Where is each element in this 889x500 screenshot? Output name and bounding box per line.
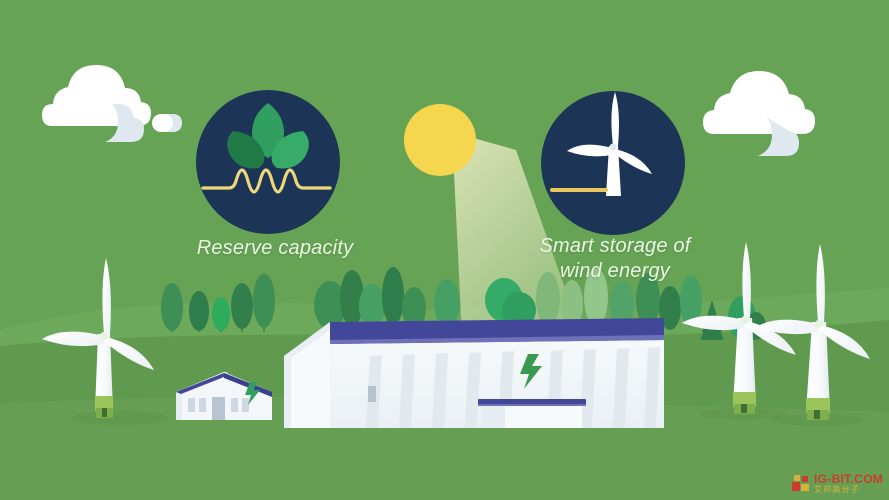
- watermark-text: IG-BIT.COM 艾邦高分子: [814, 473, 883, 494]
- badge-reserve-capacity[interactable]: [196, 90, 340, 234]
- badge-smart-storage[interactable]: [541, 91, 685, 235]
- watermark-logo-icon: [791, 473, 811, 493]
- illustration-canvas: Reserve capacity Smart storage of wind e…: [0, 0, 889, 500]
- watermark-title: IG-BIT.COM: [814, 473, 883, 485]
- energy-bar-icon: [550, 188, 608, 192]
- badge-label-reserve-capacity: Reserve capacity: [175, 236, 375, 261]
- site-watermark: IG-BIT.COM 艾邦高分子: [791, 470, 883, 496]
- badges-layer: [0, 0, 889, 500]
- watermark-subtitle: 艾邦高分子: [814, 486, 883, 494]
- badge-label-smart-storage: Smart storage of wind energy: [515, 234, 715, 284]
